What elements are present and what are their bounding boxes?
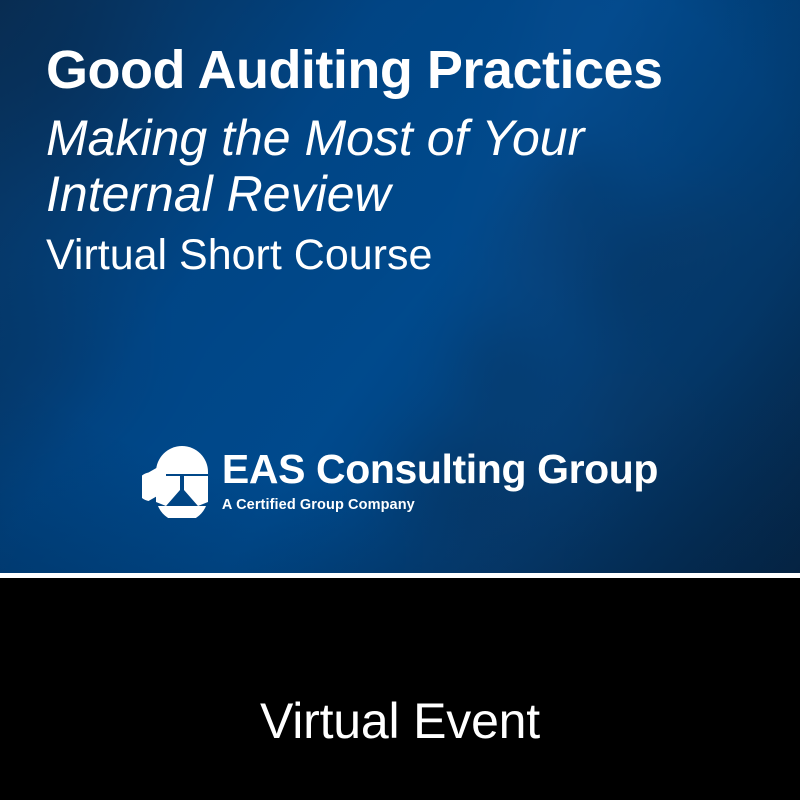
page-title: Good Auditing Practices [46, 42, 766, 98]
eas-cube-logo-icon [142, 444, 208, 518]
course-format-label: Virtual Short Course [46, 232, 766, 279]
event-type-label: Virtual Event [0, 696, 800, 746]
event-promo-poster: Good Auditing Practices Making the Most … [0, 0, 800, 800]
logo-wordmark: EAS Consulting Group A Certified Group C… [222, 449, 658, 513]
logo-company-name: EAS Consulting Group [222, 449, 658, 490]
logo-tagline: A Certified Group Company [222, 498, 658, 513]
page-subtitle: Making the Most of Your Internal Review [46, 110, 746, 222]
title-block: Good Auditing Practices Making the Most … [46, 42, 766, 279]
footer-section: Virtual Event [0, 578, 800, 800]
brand-logo: EAS Consulting Group A Certified Group C… [0, 444, 800, 518]
